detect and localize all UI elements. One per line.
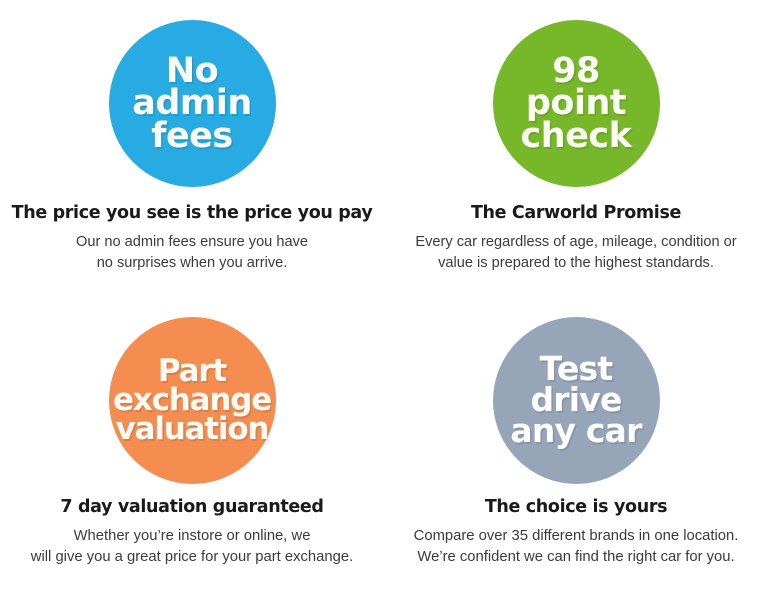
badge-text: No admin fees <box>132 55 252 153</box>
body-line: Whether you’re instore or online, we <box>6 526 378 547</box>
body-line: value is prepared to the highest standar… <box>390 253 762 274</box>
body-line: Our no admin fees ensure you have <box>6 232 378 253</box>
benefit-card-part-exchange-valuation[interactable]: Part exchange valuation 7 day valuation … <box>0 307 384 614</box>
benefit-headline: The choice is yours <box>390 498 762 517</box>
benefit-body: Our no admin fees ensure you have no sur… <box>6 232 378 273</box>
badge-line: check <box>521 120 632 153</box>
benefit-headline: 7 day valuation guaranteed <box>6 498 378 517</box>
badge-circle-98-point-check: 98 point check <box>493 20 660 187</box>
benefits-grid: No admin fees The price you see is the p… <box>0 0 768 614</box>
caption-block: The Carworld Promise Every car regardles… <box>384 187 768 274</box>
badge-circle-test-drive-any-car: Test drive any car <box>493 317 660 484</box>
badge-text: Test drive any car <box>510 354 641 446</box>
badge-text: 98 point check <box>521 55 632 153</box>
body-line: will give you a great price for your par… <box>6 547 378 568</box>
caption-block: 7 day valuation guaranteed Whether you’r… <box>0 484 384 568</box>
benefit-card-test-drive-any-car[interactable]: Test drive any car The choice is yours C… <box>384 307 768 614</box>
badge-circle-no-admin-fees: No admin fees <box>109 20 276 187</box>
body-line: Every car regardless of age, mileage, co… <box>390 232 762 253</box>
benefit-body: Compare over 35 different brands in one … <box>390 526 762 568</box>
badge-line: fees <box>132 120 252 153</box>
benefit-card-98-point-check[interactable]: 98 point check The Carworld Promise Ever… <box>384 0 768 307</box>
benefit-card-no-admin-fees[interactable]: No admin fees The price you see is the p… <box>0 0 384 307</box>
benefit-headline: The price you see is the price you pay <box>6 204 378 223</box>
benefit-body: Every car regardless of age, mileage, co… <box>390 232 762 273</box>
caption-block: The choice is yours Compare over 35 diff… <box>384 484 768 568</box>
body-line: no surprises when you arrive. <box>6 253 378 274</box>
benefit-body: Whether you’re instore or online, we wil… <box>6 526 378 568</box>
badge-line: admin <box>132 87 252 120</box>
badge-circle-part-exchange-valuation: Part exchange valuation <box>109 317 276 484</box>
badge-line: valuation <box>113 415 271 444</box>
body-line: Compare over 35 different brands in one … <box>390 526 762 547</box>
benefit-headline: The Carworld Promise <box>390 204 762 223</box>
caption-block: The price you see is the price you pay O… <box>0 187 384 274</box>
badge-line: any car <box>510 416 641 447</box>
body-line: We’re confident we can find the right ca… <box>390 547 762 568</box>
badge-text: Part exchange valuation <box>113 357 271 443</box>
badge-line: point <box>521 87 632 120</box>
